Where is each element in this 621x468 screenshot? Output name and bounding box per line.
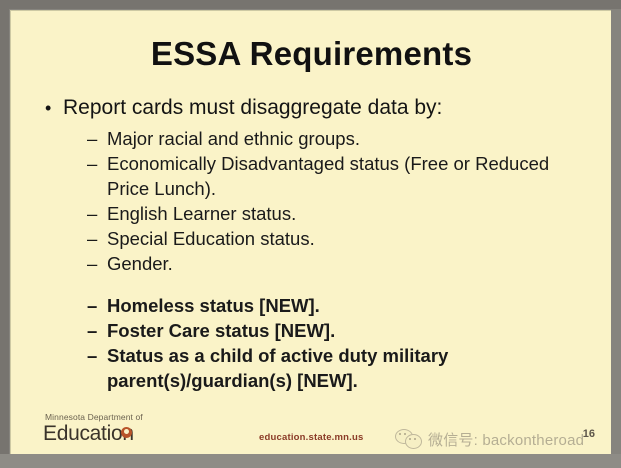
sub-bullet-item: –Economically Disadvantaged status (Free… bbox=[11, 151, 611, 201]
slide-frame: ESSA Requirements • Report cards must di… bbox=[0, 0, 621, 468]
mde-logo-top-line: Minnesota Department of bbox=[45, 412, 193, 422]
sub-bullet-text: Special Education status. bbox=[107, 228, 315, 249]
dash-marker-icon: – bbox=[87, 226, 97, 251]
dash-marker-icon: – bbox=[87, 293, 97, 318]
dash-marker-icon: – bbox=[87, 151, 97, 176]
sub-bullet-item: –English Learner status. bbox=[11, 201, 611, 226]
mde-logo-main-line: Education bbox=[43, 422, 134, 445]
sub-bullet-text: Foster Care status [NEW]. bbox=[107, 320, 335, 341]
lead-bullet-item: • Report cards must disaggregate data by… bbox=[11, 95, 611, 121]
frame-border-top bbox=[0, 0, 621, 9]
dash-marker-icon: – bbox=[87, 343, 97, 368]
sub-bullet-item: –Special Education status. bbox=[11, 226, 611, 251]
slide-body: • Report cards must disaggregate data by… bbox=[11, 95, 611, 393]
slide-number: 16 bbox=[583, 428, 595, 440]
sub-bullet-text: Status as a child of active duty militar… bbox=[107, 345, 448, 391]
lead-bullet-text: Report cards must disaggregate data by: bbox=[63, 96, 442, 119]
wechat-watermark-text: 微信号: backontheroad bbox=[428, 429, 584, 450]
sub-bullet-item: –Foster Care status [NEW]. bbox=[11, 318, 611, 343]
sub-bullet-item: –Homeless status [NEW]. bbox=[11, 293, 611, 318]
wechat-icon bbox=[395, 428, 423, 450]
sub-bullet-text: English Learner status. bbox=[107, 203, 296, 224]
sub-bullet-item: –Major racial and ethnic groups. bbox=[11, 126, 611, 151]
frame-border-left bbox=[0, 0, 9, 468]
frame-border-bottom bbox=[0, 454, 621, 468]
mde-logo-swirl-icon bbox=[121, 427, 132, 438]
sub-bullet-text: Homeless status [NEW]. bbox=[107, 295, 320, 316]
bullet-marker-icon: • bbox=[45, 95, 51, 121]
mde-logo: Minnesota Department of Education bbox=[43, 412, 193, 445]
dash-marker-icon: – bbox=[87, 251, 97, 276]
dash-marker-icon: – bbox=[87, 126, 97, 151]
sub-bullet-text: Major racial and ethnic groups. bbox=[107, 128, 360, 149]
slide-title: ESSA Requirements bbox=[11, 35, 611, 73]
sub-bullet-list: –Major racial and ethnic groups.–Economi… bbox=[11, 126, 611, 393]
presentation-slide: ESSA Requirements • Report cards must di… bbox=[10, 10, 611, 454]
dash-marker-icon: – bbox=[87, 201, 97, 226]
footer-url: education.state.mn.us bbox=[259, 432, 364, 443]
wechat-watermark: 微信号: backontheroad bbox=[395, 426, 584, 452]
dash-marker-icon: – bbox=[87, 318, 97, 343]
sub-bullet-item: –Gender. bbox=[11, 251, 611, 276]
sub-bullet-item: –Status as a child of active duty milita… bbox=[11, 343, 611, 393]
sub-bullet-text: Economically Disadvantaged status (Free … bbox=[107, 153, 549, 199]
sub-bullet-text: Gender. bbox=[107, 253, 173, 274]
